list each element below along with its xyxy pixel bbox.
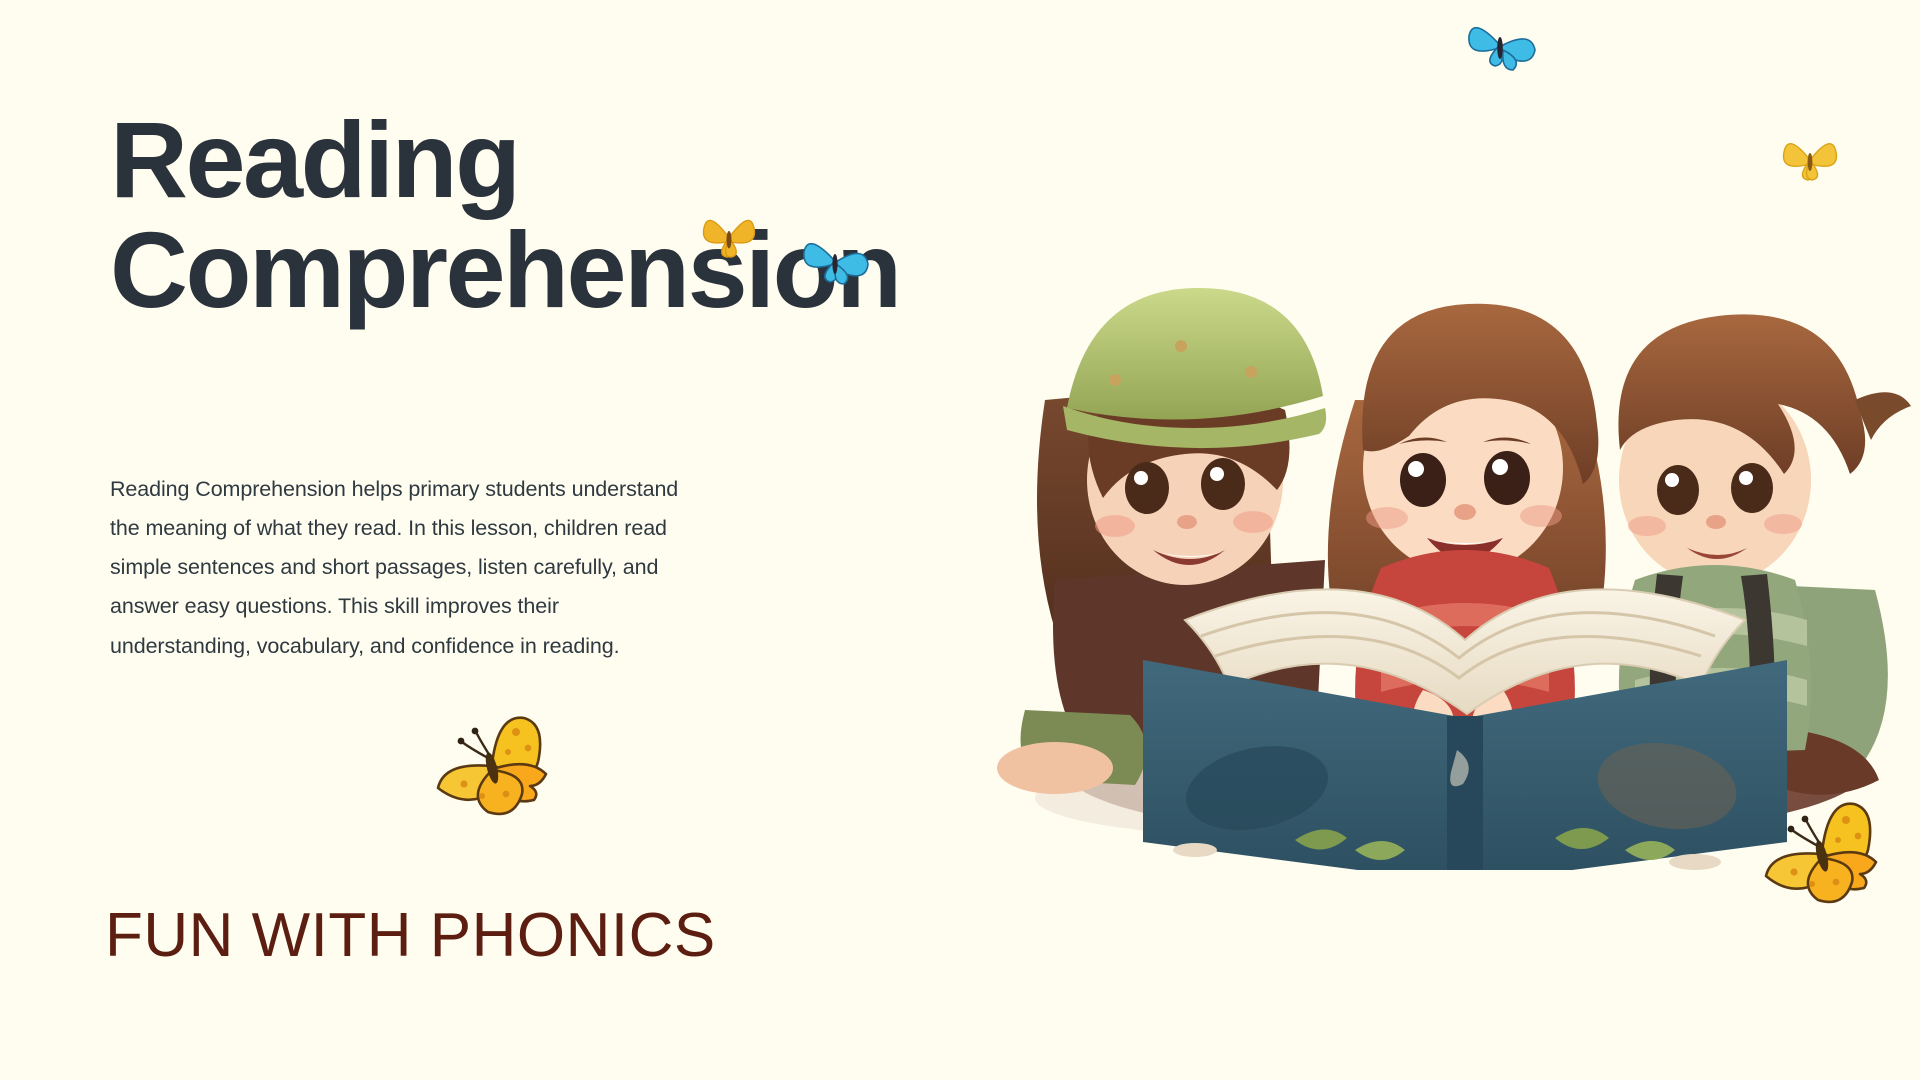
children-reading-illustration [995, 150, 1915, 870]
description-paragraph: Reading Comprehension helps primary stud… [110, 470, 690, 666]
butterfly-blue-title-icon [800, 228, 872, 290]
butterfly-yellow-large-right-icon [1760, 798, 1890, 910]
slide-canvas: Reading Comprehension Reading Comprehens… [0, 0, 1920, 1080]
green-cap [1067, 288, 1323, 420]
text-column: Reading Comprehension Reading Comprehens… [110, 0, 940, 1080]
butterfly-yellow-small-left-icon [700, 205, 758, 259]
footer-title: FUN WITH PHONICS [105, 900, 716, 971]
page-title: Reading Comprehension [110, 105, 1070, 325]
butterfly-blue-top-right-icon [1465, 12, 1541, 78]
butterfly-yellow-large-left-icon [430, 712, 560, 822]
butterfly-yellow-top-right-icon [1780, 128, 1840, 184]
book-spine [1447, 716, 1483, 870]
